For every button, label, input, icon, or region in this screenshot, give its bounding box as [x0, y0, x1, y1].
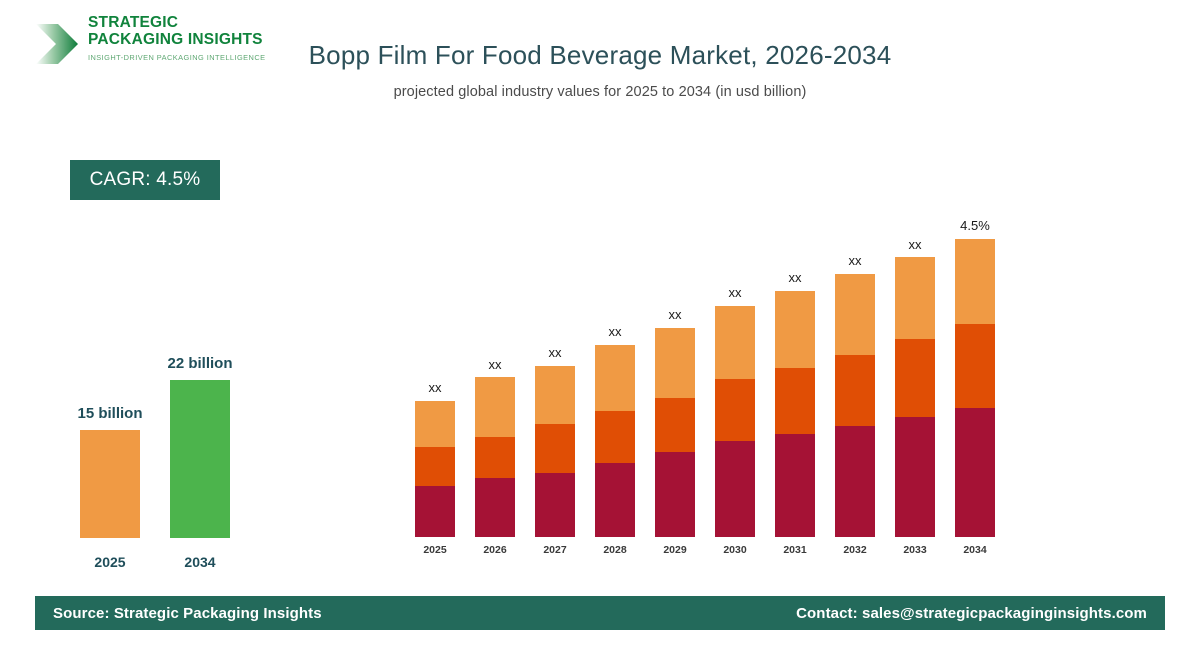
stacked-bar-segment	[835, 274, 875, 355]
stacked-bar-segment	[655, 452, 695, 537]
stacked-bar-segment	[775, 368, 815, 434]
stacked-bar-top-label: 4.5%	[937, 218, 1013, 233]
stacked-bar-segment	[415, 486, 455, 537]
stacked-bar-segment	[835, 426, 875, 537]
stacked-bar-segment	[895, 257, 935, 339]
logo-line-2: PACKAGING INSIGHTS	[88, 31, 266, 48]
stacked-bar-segment	[895, 339, 935, 417]
stacked-bar-column: xx2033	[895, 200, 935, 560]
stacked-bar-column: xx2026	[475, 200, 515, 560]
stacked-x-axis-label: 2028	[585, 544, 645, 556]
comparison-bar-column	[170, 380, 230, 538]
stacked-bar-segment	[715, 306, 755, 379]
stacked-x-axis-label: 2033	[885, 544, 945, 556]
stacked-bar-segment	[715, 379, 755, 441]
stacked-bar	[475, 377, 515, 537]
stacked-bar-segment	[655, 328, 695, 398]
stacked-x-axis-label: 2025	[405, 544, 465, 556]
comparison-bar-value-label: 22 billion	[120, 355, 280, 372]
comparison-bar-value-label: 15 billion	[30, 405, 190, 422]
stacked-bar-segment	[595, 411, 635, 463]
stacked-bar-column: xx2028	[595, 200, 635, 560]
comparison-bar	[80, 430, 140, 538]
stacked-bar-segment	[475, 377, 515, 437]
stacked-bar-segment	[955, 324, 995, 408]
stacked-bar-segment	[955, 408, 995, 537]
stacked-bar-column: xx2030	[715, 200, 755, 560]
stacked-x-axis-label: 2029	[645, 544, 705, 556]
stacked-x-axis-label: 2034	[945, 544, 1005, 556]
stacked-bar-segment	[595, 463, 635, 537]
stacked-bar-column: 4.5%2034	[955, 200, 995, 560]
stacked-bar-segment	[595, 345, 635, 411]
stacked-x-axis-label: 2030	[705, 544, 765, 556]
stacked-bar-top-label: xx	[397, 380, 473, 395]
stacked-bar-top-label: xx	[517, 345, 593, 360]
comparison-bar	[170, 380, 230, 538]
stacked-x-axis-label: 2032	[825, 544, 885, 556]
stacked-x-axis-label: 2026	[465, 544, 525, 556]
projected-stacked-forecast-chart: xx2025xx2026xx2027xx2028xx2029xx2030xx20…	[400, 200, 1020, 560]
stacked-bar-segment	[475, 437, 515, 478]
stacked-bar-column: xx2025	[415, 200, 455, 560]
cagr-badge: CAGR: 4.5%	[70, 160, 220, 200]
stacked-bar	[715, 306, 755, 537]
logo-wordmark: STRATEGIC PACKAGING INSIGHTS INSIGHT-DRI…	[88, 14, 266, 62]
stacked-bar-top-label: xx	[817, 253, 893, 268]
stacked-bar-segment	[535, 473, 575, 537]
page-subtitle: projected global industry values for 202…	[300, 84, 900, 100]
page-title: Bopp Film For Food Beverage Market, 2026…	[300, 38, 900, 73]
stacked-bar-segment	[535, 366, 575, 424]
logo-tagline: INSIGHT-DRIVEN PACKAGING INTELLIGENCE	[88, 53, 266, 62]
footer-source: Source: Strategic Packaging Insights	[53, 605, 322, 622]
footer-contact: Contact: sales@strategicpackaginginsight…	[796, 605, 1147, 622]
stacked-bar-column: xx2032	[835, 200, 875, 560]
stacked-bar	[775, 291, 815, 537]
footer-bar: Source: Strategic Packaging Insights Con…	[35, 596, 1165, 630]
stacked-bar	[955, 239, 995, 537]
stacked-bar	[595, 345, 635, 537]
stacked-bar-top-label: xx	[697, 285, 773, 300]
stacked-bar-segment	[775, 434, 815, 537]
comparison-x-axis-label: 2034	[170, 554, 230, 570]
stacked-bar-segment	[895, 417, 935, 537]
stacked-bar-column: xx2029	[655, 200, 695, 560]
stacked-bar-top-label: xx	[757, 270, 833, 285]
stacked-bar-top-label: xx	[877, 237, 953, 252]
stacked-bar	[895, 257, 935, 537]
title-block: Bopp Film For Food Beverage Market, 2026…	[300, 38, 900, 100]
brand-logo: STRATEGIC PACKAGING INSIGHTS INSIGHT-DRI…	[34, 14, 284, 78]
stacked-bar-segment	[535, 424, 575, 473]
stacked-bar	[835, 274, 875, 537]
comparison-bar-column	[80, 430, 140, 538]
logo-line-1: STRATEGIC	[88, 14, 266, 31]
stacked-x-axis-label: 2027	[525, 544, 585, 556]
stacked-bar	[655, 328, 695, 537]
stacked-bar-segment	[835, 355, 875, 426]
stacked-bar-segment	[775, 291, 815, 368]
infographic-page: STRATEGIC PACKAGING INSIGHTS INSIGHT-DRI…	[0, 0, 1200, 650]
stacked-bar-column: xx2027	[535, 200, 575, 560]
chevron-right-logo-icon	[34, 20, 80, 68]
stacked-bar-column: xx2031	[775, 200, 815, 560]
endpoint-comparison-chart: 15 billion202522 billion2034	[55, 300, 285, 570]
stacked-bar-segment	[415, 401, 455, 447]
stacked-bar	[535, 366, 575, 537]
stacked-bar-segment	[475, 478, 515, 537]
stacked-bar-top-label: xx	[577, 324, 653, 339]
stacked-bar-segment	[955, 239, 995, 324]
stacked-bar-segment	[715, 441, 755, 537]
stacked-x-axis-label: 2031	[765, 544, 825, 556]
stacked-bar-top-label: xx	[637, 307, 713, 322]
stacked-bar-segment	[415, 447, 455, 486]
comparison-x-axis-label: 2025	[80, 554, 140, 570]
stacked-bar-segment	[655, 398, 695, 452]
stacked-bar	[415, 401, 455, 537]
